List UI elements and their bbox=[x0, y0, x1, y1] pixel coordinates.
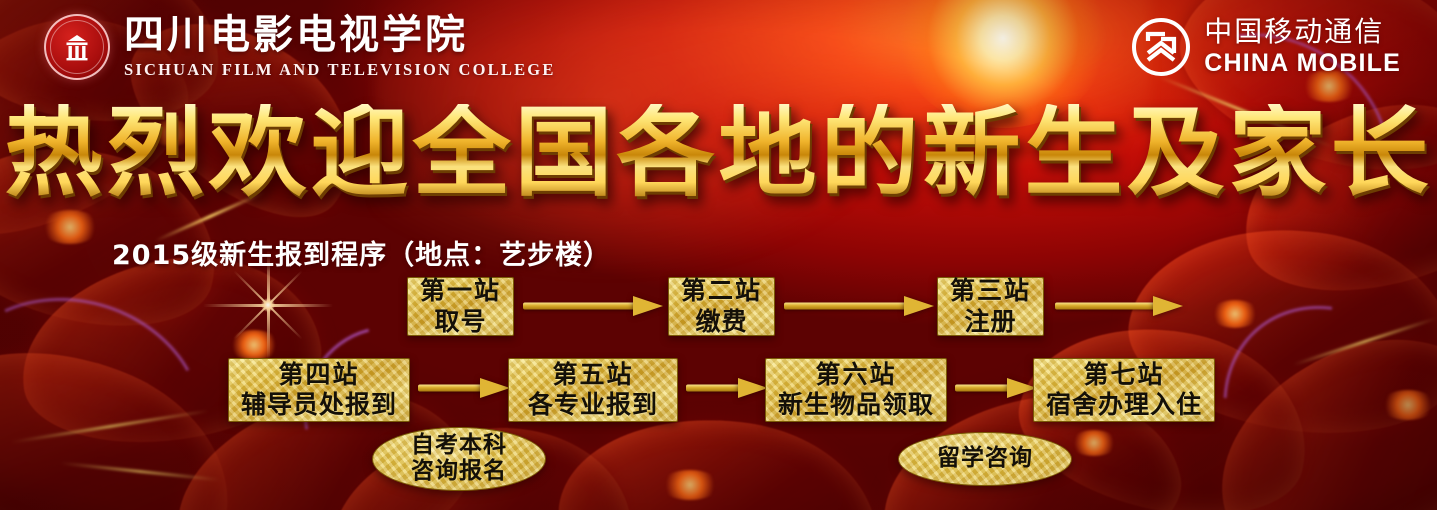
station-7-line1: 第七站 bbox=[1083, 361, 1164, 390]
badge-self-study-line1: 自考本科 bbox=[411, 433, 507, 459]
station-5-box: 第五站 各专业报到 bbox=[508, 358, 678, 422]
station-3-line1: 第三站 bbox=[950, 277, 1031, 306]
arrow-station-4-to-5 bbox=[418, 378, 510, 398]
station-6-line2: 新生物品领取 bbox=[778, 391, 934, 420]
badge-overseas: 留学咨询 bbox=[898, 432, 1072, 486]
station-5-line1: 第五站 bbox=[552, 361, 633, 390]
station-5-line2: 各专业报到 bbox=[528, 391, 658, 420]
welcome-banner: 四川电影电视学院 SICHUAN FILM AND TELEVISION COL… bbox=[0, 0, 1437, 510]
arrow-station-2-to-3 bbox=[784, 296, 934, 316]
station-1-line1: 第一站 bbox=[420, 277, 501, 306]
station-2-box: 第二站 缴费 bbox=[668, 277, 775, 336]
registration-flow-chart: 第一站 取号 第二站 缴费 第三站 注册 第四站 辅导员处报到 bbox=[0, 0, 1437, 510]
station-7-line2: 宿舍办理入住 bbox=[1046, 391, 1202, 420]
badge-self-study: 自考本科 咨询报名 bbox=[372, 427, 546, 491]
station-4-box: 第四站 辅导员处报到 bbox=[228, 358, 410, 422]
station-1-line2: 取号 bbox=[434, 308, 486, 337]
station-3-box: 第三站 注册 bbox=[937, 277, 1044, 336]
station-7-box: 第七站 宿舍办理入住 bbox=[1033, 358, 1215, 422]
station-4-line2: 辅导员处报到 bbox=[241, 391, 397, 420]
arrow-station-1-to-2 bbox=[523, 296, 663, 316]
station-3-line2: 注册 bbox=[964, 308, 1016, 337]
badge-self-study-line2: 咨询报名 bbox=[411, 459, 507, 485]
arrow-station-5-to-6 bbox=[686, 378, 768, 398]
station-2-line2: 缴费 bbox=[695, 308, 747, 337]
station-6-line1: 第六站 bbox=[815, 361, 896, 390]
station-1-box: 第一站 取号 bbox=[407, 277, 514, 336]
station-2-line1: 第二站 bbox=[681, 277, 762, 306]
badge-overseas-line1: 留学咨询 bbox=[937, 446, 1033, 472]
arrow-station-3-to-4 bbox=[1055, 296, 1183, 316]
arrow-station-6-to-7 bbox=[955, 378, 1037, 398]
station-4-line1: 第四站 bbox=[278, 361, 359, 390]
station-6-box: 第六站 新生物品领取 bbox=[765, 358, 947, 422]
